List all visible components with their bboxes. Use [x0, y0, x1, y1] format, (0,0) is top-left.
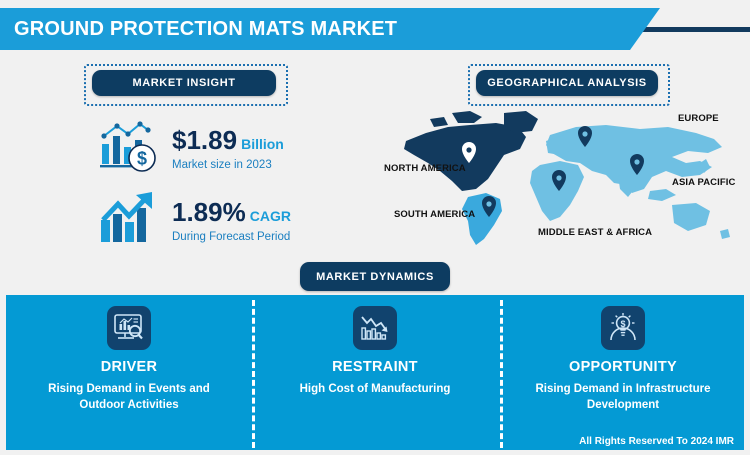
restraint-title: RESTRAINT [252, 359, 498, 375]
cagr-unit: CAGR [250, 208, 291, 224]
market-insight-label: MARKET INSIGHT [92, 70, 276, 96]
restraint-description: High Cost of Manufacturing [252, 382, 498, 398]
cagr-caption: During Forecast Period [172, 231, 291, 243]
driver-description: Rising Demand in Events and Outdoor Acti… [6, 382, 252, 413]
opportunity-title: OPPORTUNITY [500, 359, 746, 375]
region-label-north-america: NORTH AMERICA [384, 163, 466, 174]
dynamics-item-driver: DRIVER Rising Demand in Events and Outdo… [6, 300, 252, 413]
growth-arrow-icon [98, 190, 160, 251]
driver-title: DRIVER [6, 359, 252, 375]
bar-chart-dollar-icon: $ [98, 118, 160, 179]
market-size-unit: Billion [241, 136, 284, 152]
copyright-text: All Rights Reserved To 2024 IMR [579, 436, 734, 447]
dynamics-item-restraint: RESTRAINT High Cost of Manufacturing [252, 300, 498, 398]
svg-text:$: $ [137, 149, 147, 169]
page-title: GROUND PROTECTION MATS MARKET [14, 8, 397, 50]
cagr-value: 1.89% [172, 199, 246, 225]
infographic-page: GROUND PROTECTION MATS MARKET MARKET INS… [0, 0, 750, 455]
monitor-chart-search-icon [107, 306, 151, 350]
market-size-value: $1.89 [172, 127, 237, 153]
market-size-caption: Market size in 2023 [172, 159, 284, 171]
world-map: NORTH AMERICA EUROPE ASIA PACIFIC SOUTH … [400, 105, 750, 250]
market-dynamics-label: MARKET DYNAMICS [300, 262, 450, 291]
declining-chart-icon [353, 306, 397, 350]
region-label-europe: EUROPE [678, 113, 719, 124]
lightbulb-dollar-icon: $ [601, 306, 645, 350]
header-banner: GROUND PROTECTION MATS MARKET [0, 8, 750, 50]
opportunity-description: Rising Demand in Infrastructure Developm… [500, 382, 746, 413]
geographical-analysis-label: GEOGRAPHICAL ANALYSIS [476, 70, 658, 96]
region-label-south-america: SOUTH AMERICA [394, 209, 475, 220]
region-label-asia-pacific: ASIA PACIFIC [672, 177, 735, 188]
banner-tail-bar [640, 27, 750, 32]
metric-row-market-size: $ $1.89 Billion Market size in 2023 [98, 118, 284, 179]
region-label-middle-east-africa: MIDDLE EAST & AFRICA [538, 227, 652, 238]
dynamics-item-opportunity: $ OPPORTUNITY Rising Demand in Infrastru… [500, 300, 746, 413]
metric-row-cagr: 1.89% CAGR During Forecast Period [98, 190, 291, 251]
